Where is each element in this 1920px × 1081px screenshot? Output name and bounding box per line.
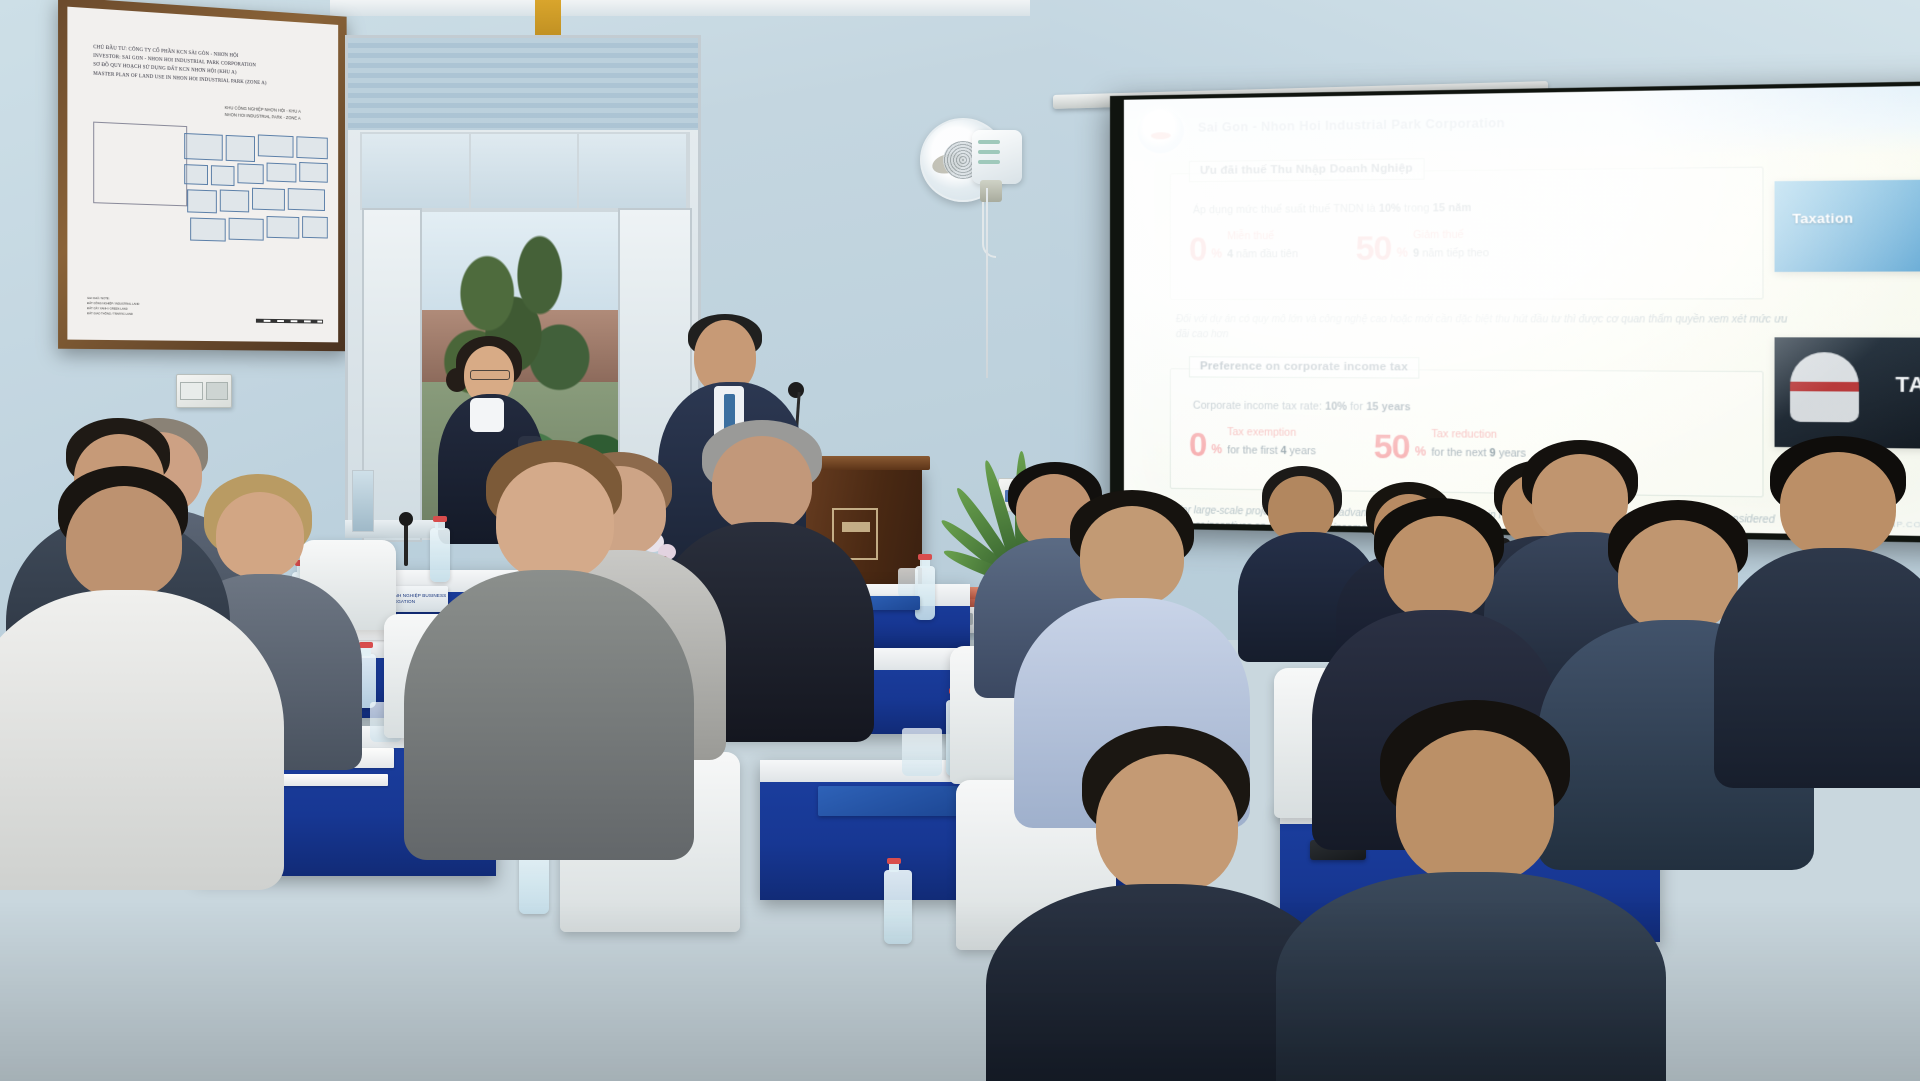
stat-number: 50	[1374, 432, 1410, 461]
audience-member	[1016, 726, 1306, 1081]
stat-duration-lead: for the next	[1431, 446, 1486, 459]
table-microphone[interactable]	[404, 522, 408, 566]
stat-number: 50	[1356, 234, 1392, 263]
stat-label: Tax reduction	[1431, 428, 1497, 441]
stat-percent: %	[1397, 245, 1408, 262]
en-sub-years: 15 years	[1366, 401, 1410, 414]
master-plan-legend-table	[93, 121, 187, 206]
stat-duration-number: 9	[1490, 447, 1496, 459]
stat-label: Tax exemption	[1227, 426, 1296, 439]
audience-member	[1310, 700, 1630, 1081]
stat-duration-number: 9	[1413, 247, 1419, 259]
stat-label: Miễn thuế	[1227, 230, 1274, 242]
audience-member	[1740, 436, 1920, 736]
en-sub-plain: Corporate income tax rate:	[1193, 400, 1322, 413]
en-sub-rate: 10%	[1325, 401, 1347, 413]
stat-duration-text: năm tiếp theo	[1422, 247, 1489, 260]
water-bottle[interactable]	[884, 870, 912, 944]
taxation-card: Taxation	[1775, 179, 1920, 271]
master-plan-frame: CHỦ ĐẦU TƯ: CÔNG TY CỔ PHẦN KCN SÀI GÒN …	[58, 0, 347, 351]
stat-percent: %	[1211, 442, 1222, 459]
stat-item: 50 % Giảm thuế 9 năm tiếp theo	[1356, 224, 1489, 263]
side-glass-panel	[352, 470, 374, 532]
fan-pull-cord[interactable]	[982, 202, 996, 258]
stat-duration-text: năm đầu tiên	[1236, 248, 1298, 260]
stat-percent: %	[1211, 246, 1222, 263]
document-folder[interactable]	[818, 786, 958, 816]
drinking-glass[interactable]	[898, 568, 918, 598]
drinking-glass[interactable]	[902, 728, 942, 776]
fan-motor-housing	[972, 130, 1022, 184]
woman-blouse	[470, 398, 504, 432]
window-blinds[interactable]	[348, 38, 698, 130]
master-plan-side-note: KHU CÔNG NGHIỆP NHƠN HỘI - KHU A NHON HO…	[225, 105, 301, 123]
master-plan-notes: GHI CHÚ / NOTE: ĐẤT CÔNG NGHIỆP / INDUST…	[87, 296, 203, 318]
wall-mounted-fan[interactable]	[920, 112, 1028, 212]
master-plan-scale-bar	[256, 318, 323, 323]
master-plan-poster: CHỦ ĐẦU TƯ: CÔNG TY CỔ PHẦN KCN SÀI GÒN …	[67, 7, 338, 343]
stat-duration-text: years	[1290, 445, 1316, 457]
slide-en-subtitle: Corporate income tax rate: 10% for 15 ye…	[1193, 400, 1411, 414]
stat-duration: 9 năm tiếp theo	[1413, 247, 1489, 260]
stat-item: 0 % Tax exemption for the first 4 years	[1189, 422, 1316, 461]
stat-item: 0 % Miễn thuế 4 năm đầu tiên	[1189, 226, 1298, 264]
vi-sub-mid: trong	[1404, 202, 1429, 215]
master-plan-title: CHỦ ĐẦU TƯ: CÔNG TY CỔ PHẦN KCN SÀI GÒN …	[93, 42, 266, 88]
stat-number: 0	[1189, 235, 1206, 263]
audience-member	[0, 466, 260, 886]
slide-card-vietnamese: Ưu đãi thuế Thu Nhập Doanh Nghiệp Áp dụn…	[1170, 167, 1764, 300]
vi-sub-years: 15 năm	[1433, 202, 1472, 215]
en-sub-mid: for	[1350, 401, 1363, 413]
air-conditioner-control-panel[interactable]	[176, 374, 232, 408]
slide-vi-stats: 0 % Miễn thuế 4 năm đầu tiên 50 %	[1189, 223, 1752, 264]
stat-label: Giảm thuế	[1413, 229, 1464, 242]
conference-room-photo: CHỦ ĐẦU TƯ: CÔNG TY CỔ PHẦN KCN SÀI GÒN …	[0, 0, 1920, 1081]
fan-power-cable	[986, 188, 988, 378]
slide-en-stats: 0 % Tax exemption for the first 4 years	[1189, 422, 1752, 466]
slide-en-tab: Preference on corporate income tax	[1189, 356, 1419, 378]
ceiling-light-strip	[330, 0, 1030, 16]
stat-duration-number: 4	[1281, 445, 1287, 457]
stat-duration: for the first 4 years	[1227, 444, 1316, 457]
slide-vi-paragraph: Đối với dự án có quy mô lớn và công nghệ…	[1176, 312, 1797, 344]
stat-percent: %	[1415, 444, 1426, 462]
tax-photo-label: TAX	[1895, 374, 1920, 399]
audience-member	[430, 440, 660, 840]
slide-vi-tab: Ưu đãi thuế Thu Nhập Doanh Nghiệp	[1189, 158, 1424, 182]
transom-glass	[360, 132, 690, 210]
fan-wall-mount	[980, 180, 1002, 202]
stat-number: 0	[1189, 431, 1206, 459]
tax-photo-card: TAX	[1775, 337, 1920, 449]
eyeglasses-icon	[470, 370, 510, 380]
stat-duration-number: 4	[1227, 248, 1233, 260]
vi-sub-rate: 10%	[1379, 202, 1401, 214]
taxation-card-label: Taxation	[1792, 210, 1853, 226]
stat-duration: 4 năm đầu tiên	[1227, 248, 1298, 260]
vi-sub-plain: Áp dụng mức thuế suất thuế TNDN là	[1193, 203, 1376, 217]
stat-duration-lead: for the first	[1227, 444, 1277, 457]
slide-vi-subtitle: Áp dụng mức thuế suất thuế TNDN là 10% t…	[1193, 202, 1471, 217]
water-bottle[interactable]	[915, 566, 935, 620]
master-plan-lot-grid	[184, 122, 330, 266]
